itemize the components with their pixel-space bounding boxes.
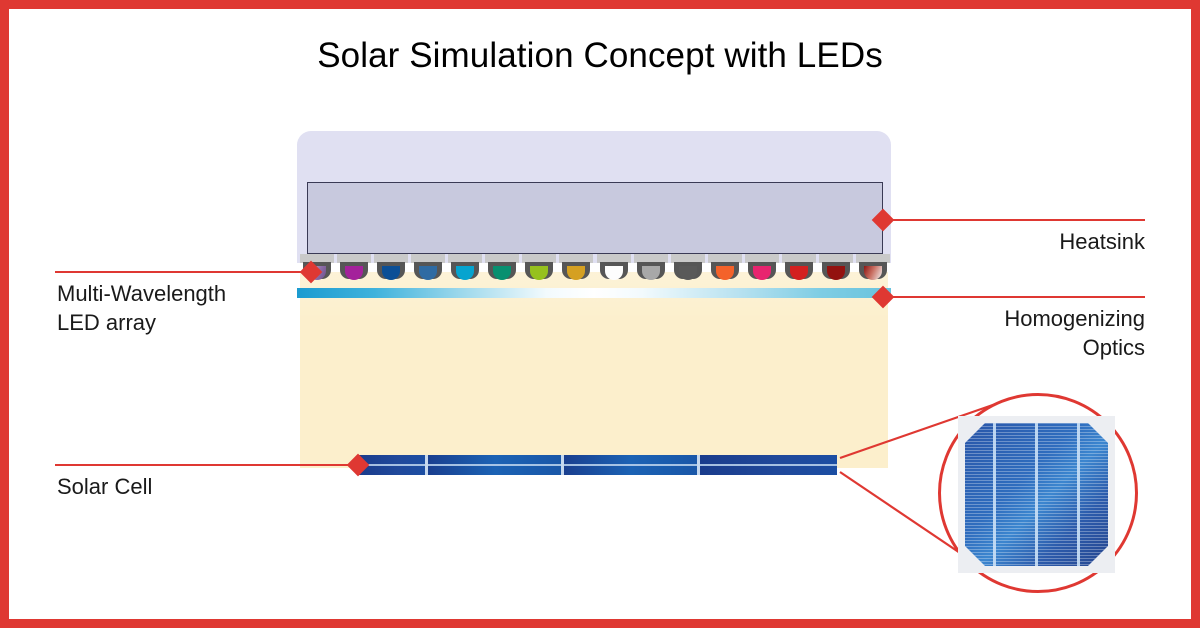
frame-border-bottom — [0, 619, 1200, 628]
led-module — [411, 254, 445, 286]
solar-cell-surface — [965, 423, 1108, 566]
callout-line-led-array — [55, 271, 313, 273]
led-module — [337, 254, 371, 286]
homogenizing-optics-bar — [297, 288, 891, 298]
label-solar-cell: Solar Cell — [57, 472, 357, 501]
solar-cell-strip — [358, 455, 840, 475]
magnified-solar-cell — [958, 416, 1115, 573]
solar-cell-segment — [428, 455, 564, 475]
busbar — [1077, 423, 1080, 566]
heatsink-block — [307, 182, 883, 254]
led-module — [671, 254, 705, 286]
solar-cell-segment — [564, 455, 700, 475]
multi-wavelength-led-array — [300, 254, 890, 286]
led-module — [634, 254, 668, 286]
busbar — [993, 423, 996, 566]
diagram-canvas: Solar Simulation Concept with LEDs Heats… — [0, 0, 1200, 628]
led-module — [522, 254, 556, 286]
callout-line-heatsink — [890, 219, 1145, 221]
page-title: Solar Simulation Concept with LEDs — [0, 36, 1200, 76]
led-module — [597, 254, 631, 286]
led-module — [708, 254, 742, 286]
label-multi-wavelength-led-array: Multi-Wavelength LED array — [57, 279, 337, 337]
led-module — [485, 254, 519, 286]
led-module — [448, 254, 482, 286]
led-module — [782, 254, 816, 286]
led-module — [745, 254, 779, 286]
illumination-field-glow — [300, 272, 888, 468]
label-homogenizing-optics: Homogenizing Optics — [885, 304, 1145, 362]
frame-border-right — [1191, 0, 1200, 628]
led-module — [819, 254, 853, 286]
frame-border-left — [0, 0, 9, 628]
callout-line-solar-cell — [55, 464, 360, 466]
callout-line-optics — [890, 296, 1145, 298]
busbar — [1035, 423, 1038, 566]
led-module — [856, 254, 890, 286]
frame-border-top — [0, 0, 1200, 9]
led-module — [559, 254, 593, 286]
solar-cell-segment — [700, 455, 837, 475]
led-module — [374, 254, 408, 286]
label-heatsink: Heatsink — [885, 227, 1145, 256]
